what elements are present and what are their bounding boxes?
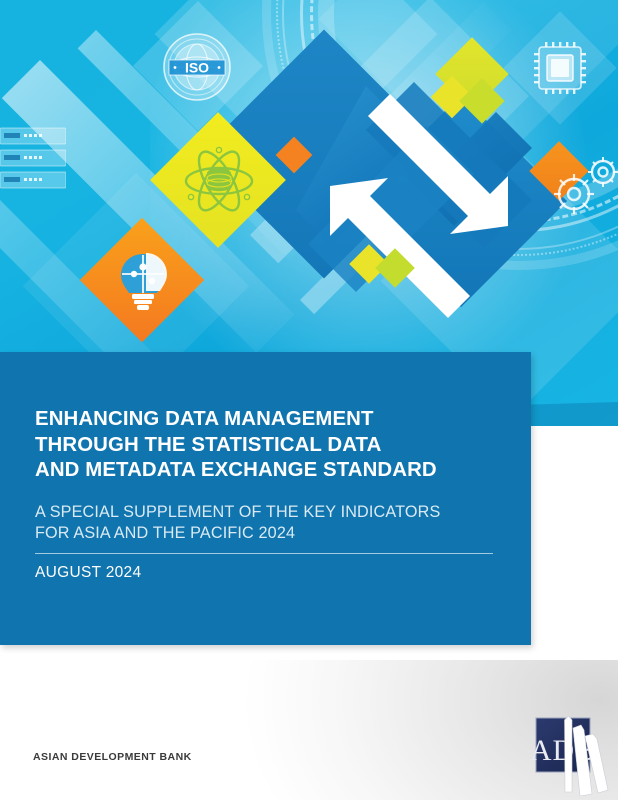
publication-date: AUGUST 2024	[35, 564, 141, 582]
organization-name: ASIAN DEVELOPMENT BANK	[33, 751, 192, 763]
title-band: ENHANCING DATA MANAGEMENT THROUGH THE ST…	[0, 352, 531, 645]
microchip-icon	[528, 36, 592, 100]
subtitle-line-2: FOR ASIA AND THE PACIFIC 2024	[35, 523, 505, 544]
exchange-arrows-icon	[296, 78, 536, 328]
page-subtitle: A SPECIAL SUPPLEMENT OF THE KEY INDICATO…	[35, 502, 505, 544]
gears-icon	[548, 150, 618, 222]
iso-badge-label: ISO	[185, 60, 209, 76]
atom-database-icon	[180, 142, 258, 220]
title-line-1: ENHANCING DATA MANAGEMENT	[35, 407, 505, 433]
iso-badge-icon: ISO	[161, 31, 233, 103]
title-line-2: THROUGH THE STATISTICAL DATA	[35, 433, 505, 459]
adb-logo: ADB	[528, 714, 614, 796]
title-line-3: AND METADATA EXCHANGE STANDARD	[35, 458, 505, 484]
book-cover: ISO	[0, 0, 618, 800]
server-rack-icon	[0, 126, 66, 190]
page-title: ENHANCING DATA MANAGEMENT THROUGH THE ST…	[35, 407, 505, 484]
subtitle-line-1: A SPECIAL SUPPLEMENT OF THE KEY INDICATO…	[35, 502, 505, 523]
puzzle-lightbulb-icon	[110, 248, 176, 314]
title-divider	[35, 553, 493, 554]
